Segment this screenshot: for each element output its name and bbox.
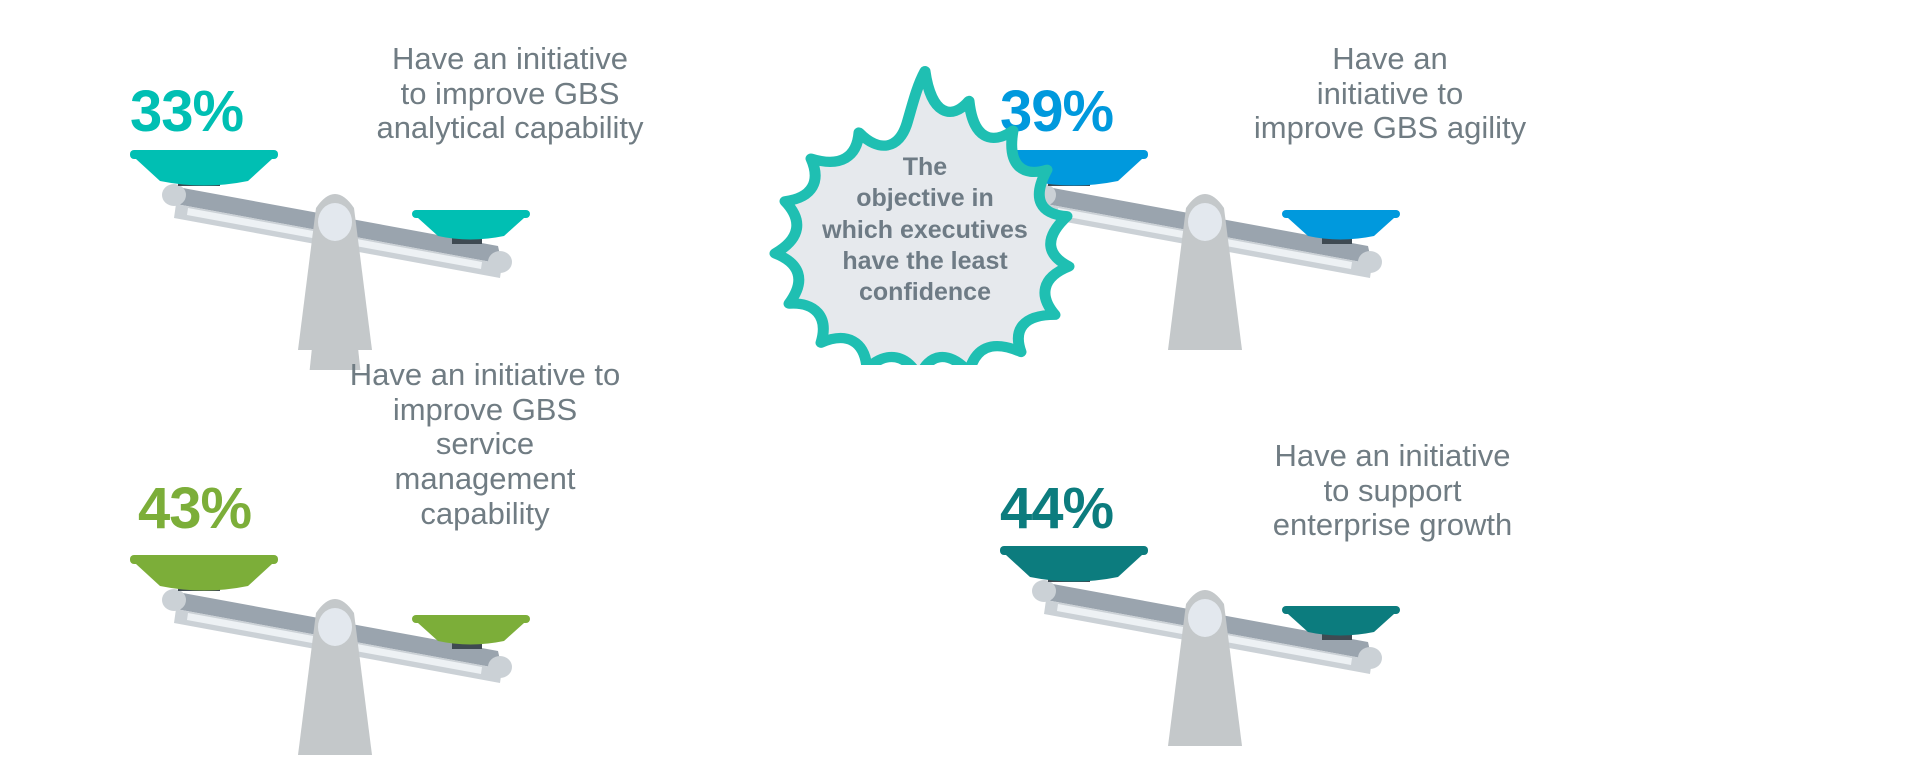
starburst-line: The (807, 152, 1043, 183)
scale-label-39: Have an initiative to improve GBS agilit… (1215, 30, 1565, 146)
balance-scale-43 (130, 555, 590, 755)
scale-label-43: Have an initiative to improve GBS servic… (310, 358, 660, 532)
label-line: Have an initiative to (310, 358, 660, 393)
label-line: Have an (1215, 42, 1565, 77)
scale-header: 33% Have an initiative to improve GBS an… (130, 30, 730, 160)
label-line: capability (310, 497, 660, 532)
balance-scale-icon (130, 150, 590, 370)
label-line: enterprise growth (1215, 508, 1570, 543)
scale-label-33: Have an initiative to improve GBS analyt… (320, 30, 700, 146)
percent-value-44: 44% (1000, 480, 1215, 538)
starburst-line: have the least (807, 246, 1043, 277)
scale-header: 43% Have an initiative to improve GBS se… (130, 370, 750, 545)
scale-header: 44% Have an initiative to support enterp… (1000, 425, 1620, 560)
label-line: analytical capability (320, 111, 700, 146)
label-line: management (310, 462, 660, 497)
starburst-text: The objective in which executives have t… (755, 152, 1095, 308)
label-line: initiative to (1215, 77, 1565, 112)
label-line: service (310, 427, 660, 462)
scale-card-enterprise-growth: 44% Have an initiative to support enterp… (1000, 425, 1620, 746)
infographic-canvas: 33% Have an initiative to improve GBS an… (0, 0, 1920, 777)
starburst-callout: The objective in which executives have t… (755, 60, 1095, 365)
starburst-line: confidence (807, 277, 1043, 308)
label-line: to support (1215, 474, 1570, 509)
starburst-line: which executives (807, 215, 1043, 246)
percent-value-43: 43% (138, 480, 251, 538)
label-line: to improve GBS (320, 77, 700, 112)
percent-value-33: 33% (130, 83, 320, 141)
label-line: Have an initiative (1215, 439, 1570, 474)
starburst-line: objective in (807, 183, 1043, 214)
balance-scale-44 (1000, 546, 1460, 746)
scale-card-gbs-analytical-capability: 33% Have an initiative to improve GBS an… (130, 30, 730, 350)
label-line: improve GBS (310, 393, 660, 428)
label-line: improve GBS agility (1215, 111, 1565, 146)
balance-scale-33 (130, 150, 590, 350)
label-line: Have an initiative (320, 42, 700, 77)
scale-label-44: Have an initiative to support enterprise… (1215, 425, 1570, 543)
balance-scale-icon (130, 555, 590, 775)
balance-scale-icon (1000, 546, 1460, 766)
scale-card-gbs-service-management-capability: 43% Have an initiative to improve GBS se… (130, 370, 750, 755)
